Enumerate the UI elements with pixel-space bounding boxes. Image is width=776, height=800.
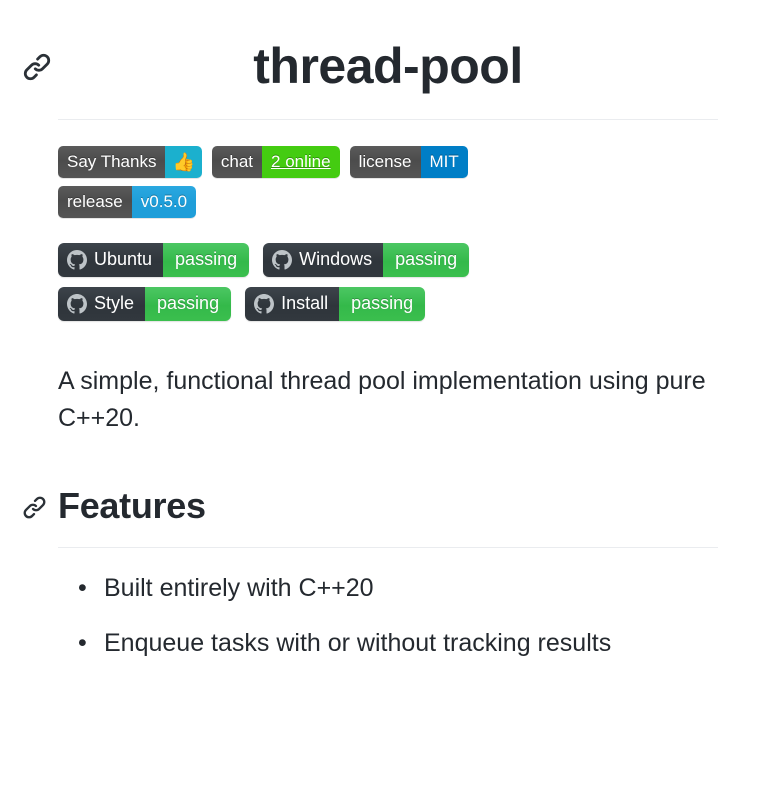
- workflow-badge-install[interactable]: Install passing: [245, 287, 425, 321]
- list-item: Enqueue tasks with or without tracking r…: [104, 625, 664, 662]
- badge-release-value: v0.5.0: [132, 186, 196, 218]
- workflow-badge-style-status: passing: [145, 287, 231, 321]
- badge-license-label: license: [350, 146, 421, 178]
- badge-say-thanks-label: Say Thanks: [58, 146, 165, 178]
- workflow-badge-style-left: Style: [58, 287, 145, 321]
- features-heading: Features: [58, 485, 718, 527]
- workflow-badge-windows-left: Windows: [263, 243, 383, 277]
- workflow-badge-ubuntu-label: Ubuntu: [94, 249, 152, 270]
- workflow-badge-install-label: Install: [281, 293, 328, 314]
- workflow-badge-ubuntu-left: Ubuntu: [58, 243, 163, 277]
- workflow-badge-windows-status: passing: [383, 243, 469, 277]
- title-divider: [58, 119, 718, 120]
- badge-license-value: MIT: [421, 146, 468, 178]
- badge-say-thanks[interactable]: Say Thanks 👍: [58, 146, 202, 178]
- page-title: thread-pool: [58, 38, 718, 96]
- github-mark-icon: [67, 294, 87, 314]
- workflow-badge-ubuntu[interactable]: Ubuntu passing: [58, 243, 249, 277]
- list-item: Built entirely with C++20: [104, 570, 664, 607]
- workflow-badge-ubuntu-status: passing: [163, 243, 249, 277]
- workflow-badge-install-status: passing: [339, 287, 425, 321]
- github-mark-icon: [272, 250, 292, 270]
- thumbs-up-icon: 👍: [165, 146, 201, 178]
- features-divider: [58, 547, 718, 548]
- badge-release-label: release: [58, 186, 132, 218]
- badge-chat-value: 2 online: [262, 146, 340, 178]
- badge-chat-label: chat: [212, 146, 262, 178]
- workflow-badge-windows-label: Windows: [299, 249, 372, 270]
- workflow-badge-group: Ubuntu passing Windows passing: [0, 243, 776, 321]
- badge-license[interactable]: license MIT: [350, 146, 468, 178]
- github-mark-icon: [254, 294, 274, 314]
- badge-row: Say Thanks 👍 chat 2 online license MIT: [58, 146, 718, 178]
- badge-row: release v0.5.0: [58, 186, 718, 218]
- badge-chat[interactable]: chat 2 online: [212, 146, 340, 178]
- description-paragraph: A simple, functional thread pool impleme…: [0, 363, 776, 437]
- features-section: Features: [0, 485, 776, 548]
- workflow-badge-install-left: Install: [245, 287, 339, 321]
- features-list: Built entirely with C++20 Enqueue tasks …: [0, 570, 776, 662]
- github-mark-icon: [67, 250, 87, 270]
- readme-page: thread-pool Say Thanks 👍 chat 2 online l…: [0, 0, 776, 800]
- workflow-badge-windows[interactable]: Windows passing: [263, 243, 469, 277]
- link-icon[interactable]: [22, 52, 52, 82]
- workflow-badge-style-label: Style: [94, 293, 134, 314]
- badge-group: Say Thanks 👍 chat 2 online license MIT r…: [0, 146, 776, 218]
- workflow-badge-row: Style passing Install passing: [58, 287, 718, 321]
- badge-release[interactable]: release v0.5.0: [58, 186, 196, 218]
- workflow-badge-row: Ubuntu passing Windows passing: [58, 243, 718, 277]
- workflow-badge-style[interactable]: Style passing: [58, 287, 231, 321]
- page-header: thread-pool: [0, 0, 776, 96]
- link-icon[interactable]: [22, 495, 47, 520]
